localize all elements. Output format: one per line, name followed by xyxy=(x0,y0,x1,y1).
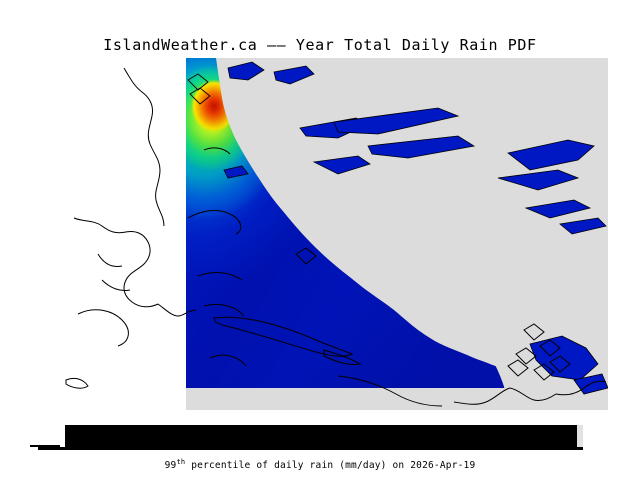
map-panel[interactable] xyxy=(38,58,608,410)
colorbar-tail xyxy=(577,425,583,447)
land-mask-layer xyxy=(38,58,608,410)
colorbar[interactable] xyxy=(65,425,577,447)
colorbar-baseline-rule xyxy=(38,447,583,450)
caption-value: 99 xyxy=(165,460,177,471)
caption-ordinal: th xyxy=(176,458,185,466)
page-title: IslandWeather.ca —— Year Total Daily Rai… xyxy=(0,36,640,54)
hotspot-grid-cells xyxy=(188,74,210,104)
colorbar-gradient xyxy=(65,425,577,447)
caption-rest: percentile of daily rain (mm/day) on 202… xyxy=(185,460,475,471)
colorbar-caption: 99th percentile of daily rain (mm/day) o… xyxy=(0,458,640,471)
figure-canvas: IslandWeather.ca —— Year Total Daily Rai… xyxy=(0,0,640,480)
